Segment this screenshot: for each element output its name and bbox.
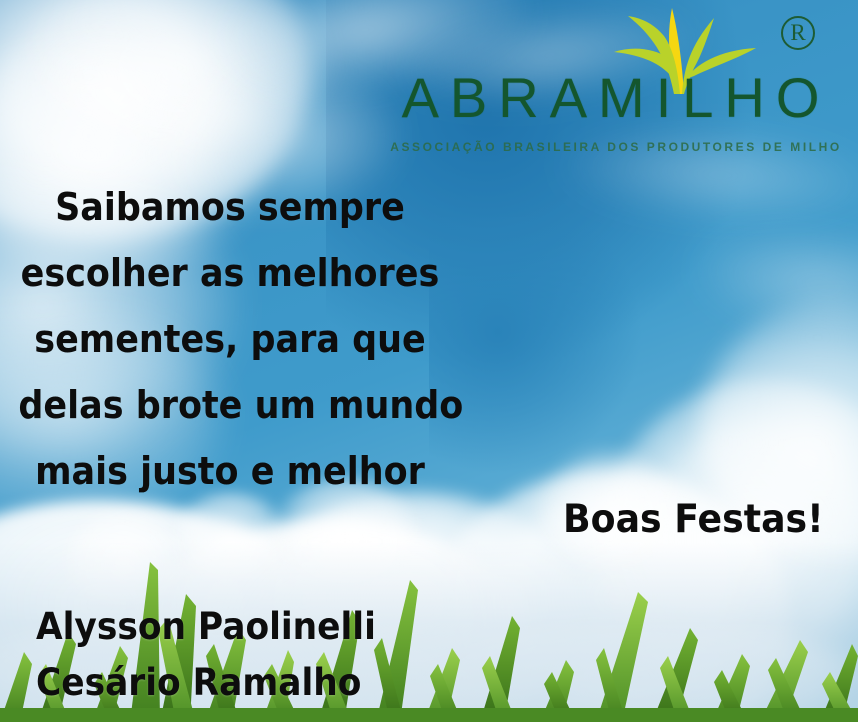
quote-line-1: Saibamos sempre: [18, 188, 441, 226]
quote-line-4: delas brote um mundo: [18, 386, 441, 424]
quote-line-3: sementes, para que: [18, 320, 441, 358]
sky-deep-blue-gradient-secondary: [429, 217, 772, 506]
greeting-card: R ABRAMILHO ASSOCIAÇÃO BRASILEIRA DOS PR…: [0, 0, 858, 722]
registered-trademark-icon: R: [781, 16, 815, 50]
quote-line-2: escolher as melhores: [18, 254, 441, 292]
signature-name-2: Cesário Ramalho: [36, 664, 361, 701]
abramilho-logo: R ABRAMILHO ASSOCIAÇÃO BRASILEIRA DOS PR…: [383, 2, 853, 167]
quote-block: Saibamos sempre escolher as melhores sem…: [0, 180, 460, 490]
logo-wordmark: ABRAMILHO: [383, 70, 849, 126]
signature-name-1: Alysson Paolinelli: [36, 608, 376, 645]
greeting-text: Boas Festas!: [563, 500, 824, 539]
logo-tagline: ASSOCIAÇÃO BRASILEIRA DOS PRODUTORES DE …: [383, 141, 849, 153]
quote-line-5: mais justo e melhor: [18, 452, 441, 490]
